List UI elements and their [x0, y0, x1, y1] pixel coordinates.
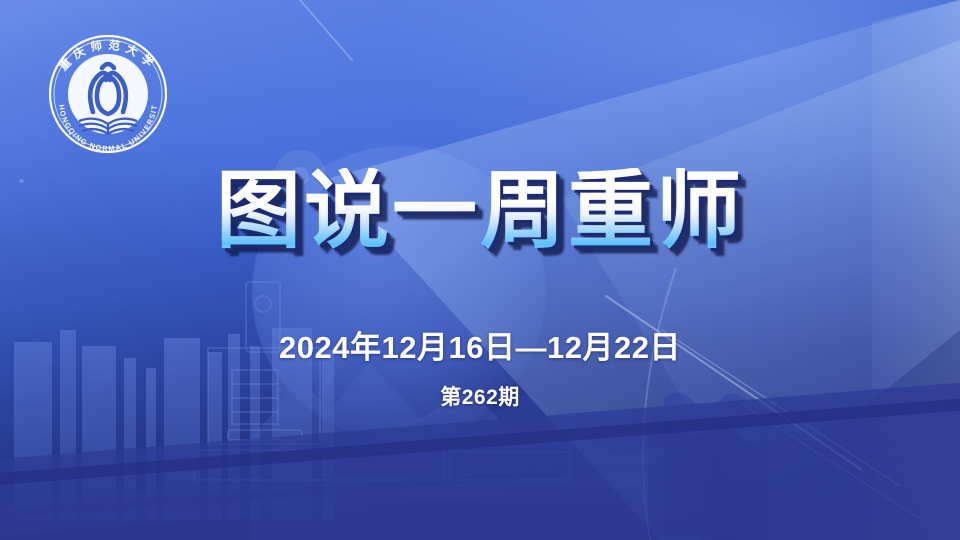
- poster-canvas: 重庆师范大学 CHONGQING NORMAL UNIVERSITY 图说一周重…: [0, 0, 960, 540]
- foreground-diagonal-band: [0, 350, 960, 540]
- university-logo-icon: 重庆师范大学 CHONGQING NORMAL UNIVERSITY: [33, 24, 183, 164]
- date-range-text: 2024年12月16日—12月22日: [0, 322, 960, 367]
- issue-number-text: 第262期: [0, 381, 960, 411]
- page-title: 图说一周重师: [216, 168, 744, 255]
- title-block: 图说一周重师: [0, 168, 960, 255]
